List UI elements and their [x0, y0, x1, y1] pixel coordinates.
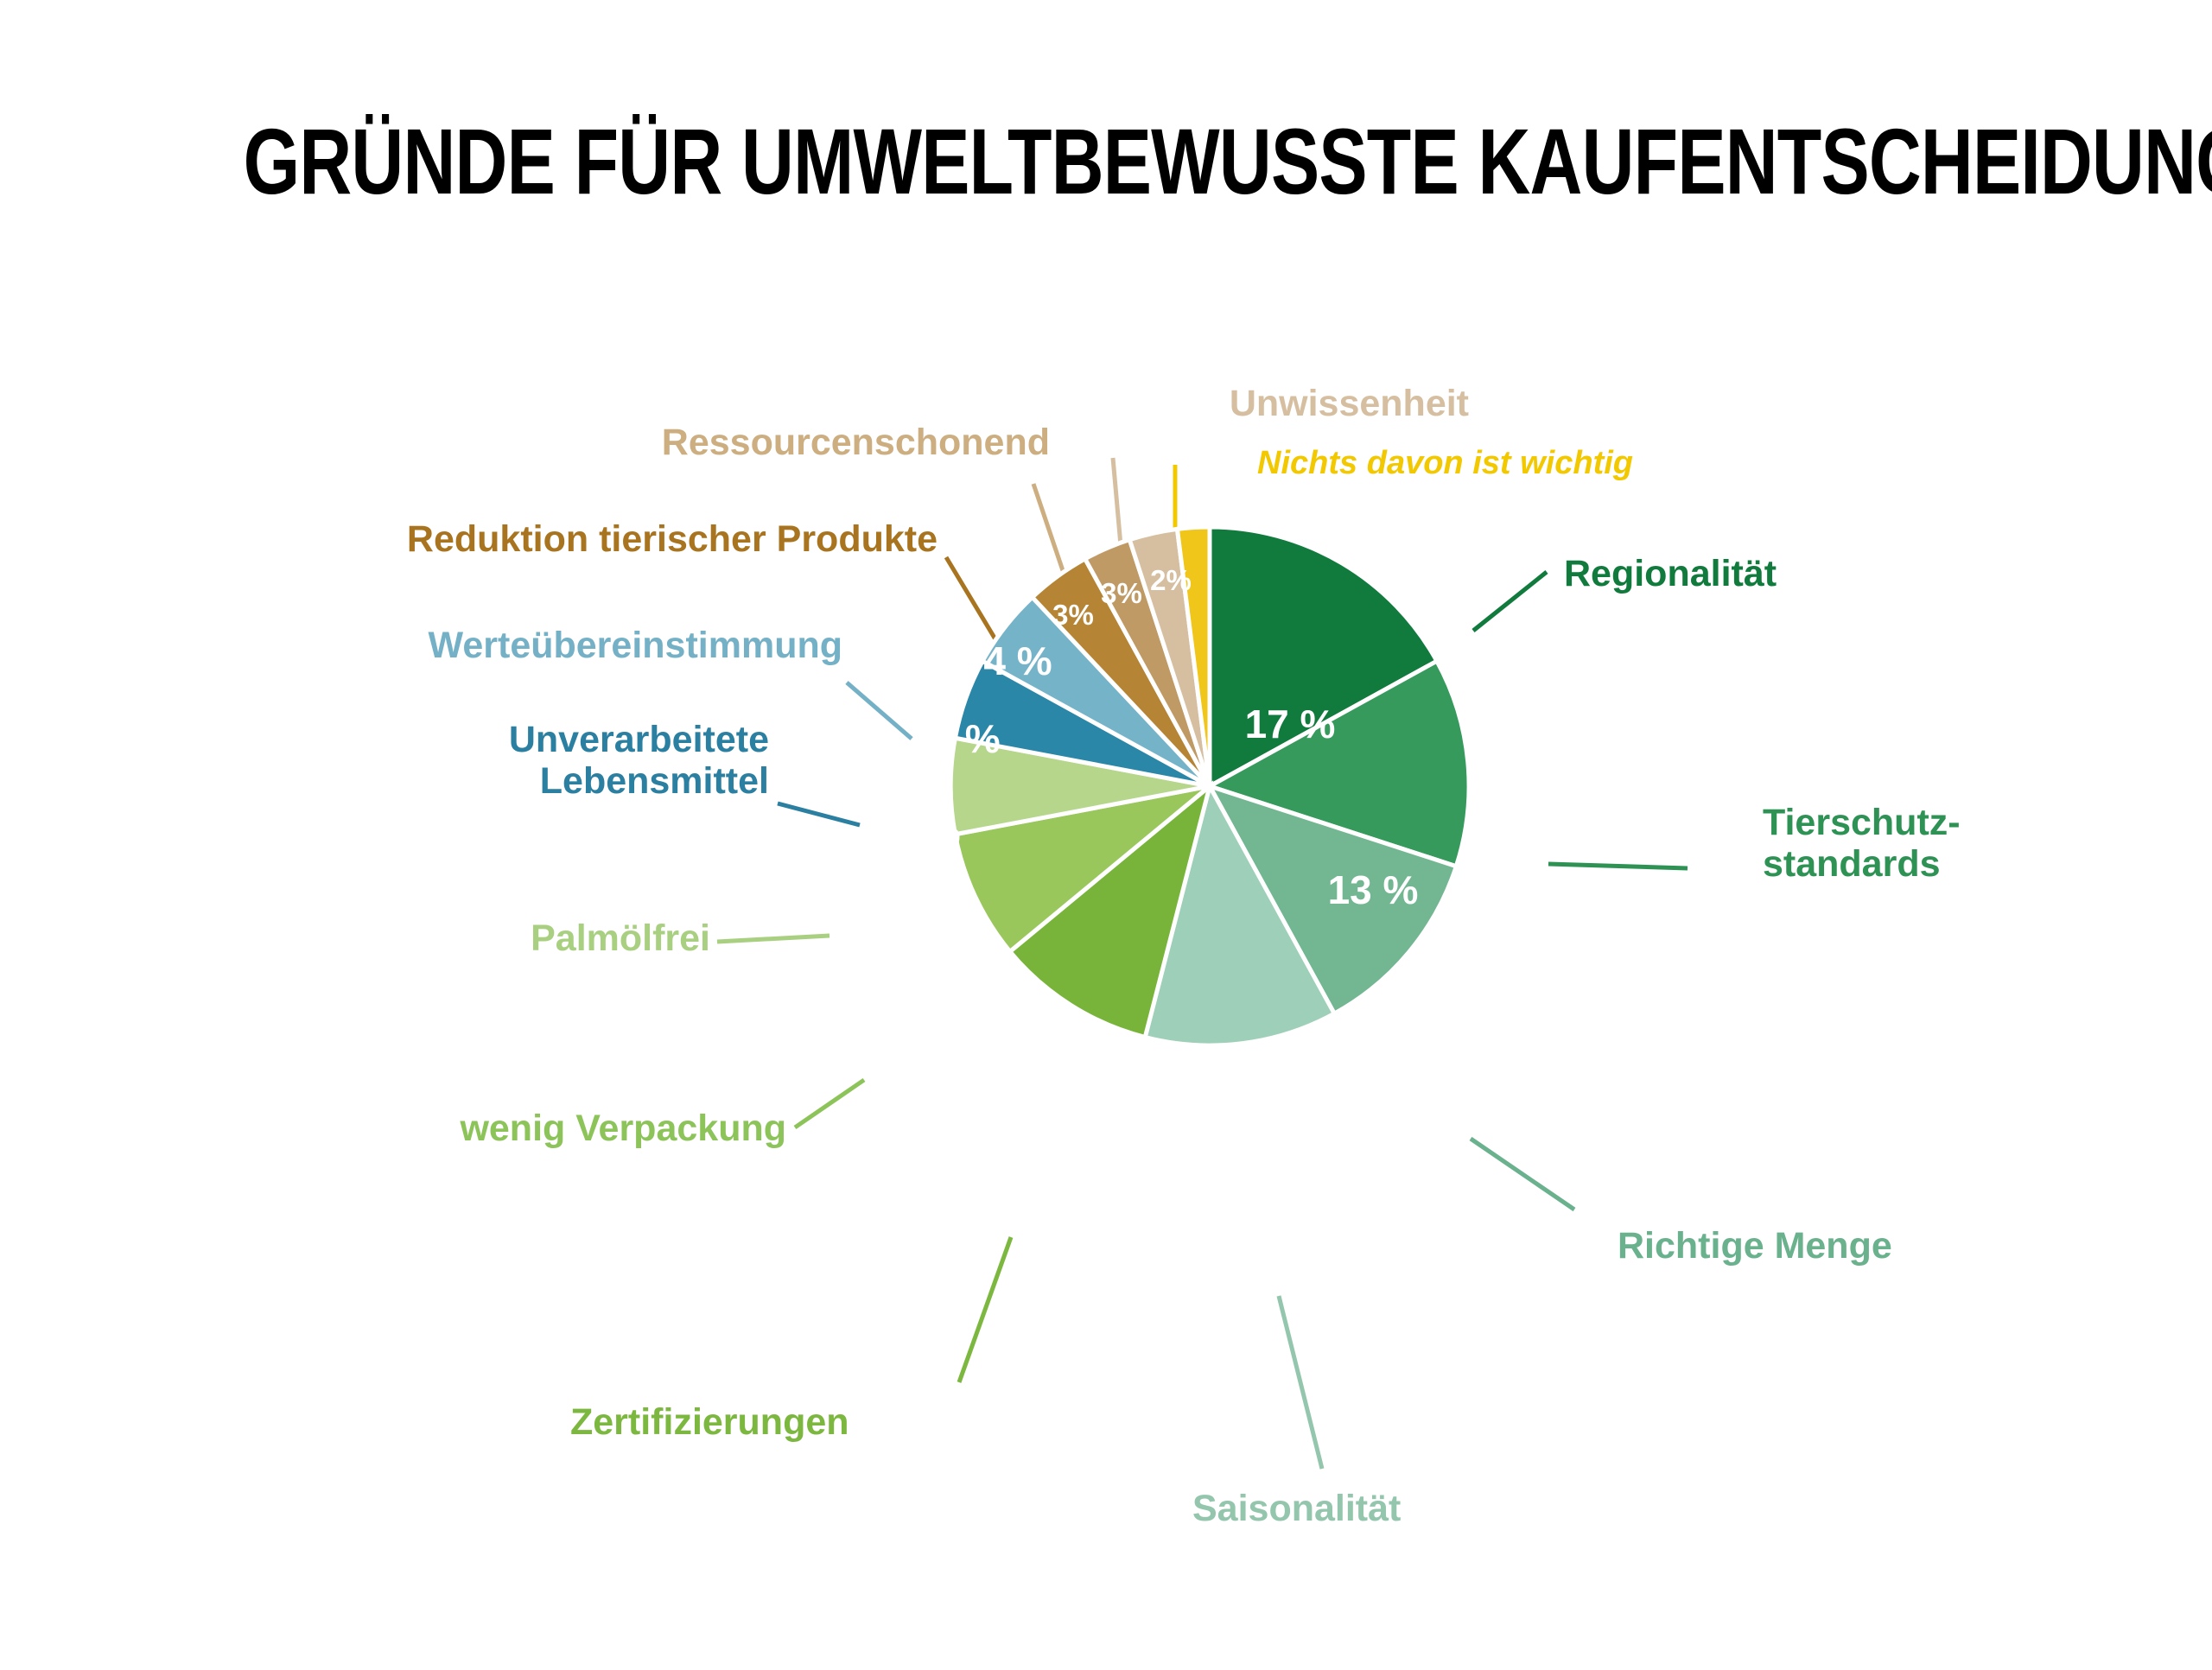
pct-label-ressourcenschonend: 3%	[1052, 599, 1094, 632]
pct-label-wenig-verpackung: 8 %	[903, 989, 971, 1036]
pct-label-tierschutzstandards: 13 %	[1328, 867, 1419, 913]
pct-label-regionalitaet: 17 %	[1245, 701, 1336, 747]
category-label-regionalitaet[interactable]: Regionalität	[1564, 553, 1777, 594]
pct-label-unverarbeitete: 5 %	[892, 809, 960, 855]
category-label-tierschutzstandards[interactable]: Tierschutz- standards	[1763, 802, 1961, 885]
leader-line-saisonalitaet	[1279, 1296, 1322, 1469]
leader-line-zertifizierungen	[959, 1237, 1011, 1382]
category-label-zertifizierungen[interactable]: Zertifizierungen	[570, 1401, 849, 1443]
leader-line-richtige-menge	[1471, 1139, 1574, 1210]
category-label-unverarbeitete-line1: Unverarbeitete	[509, 719, 769, 760]
pie-chart	[942, 518, 1478, 1054]
page-title: GRÜNDE FÜR UMWELTBEWUSSTE KAUFENTSCHEIDU…	[244, 112, 1969, 210]
pct-label-palmoelfrei: 6 %	[873, 894, 941, 941]
category-label-wenig-verpackung[interactable]: wenig Verpackung	[0, 1108, 786, 1149]
category-label-saisonalitaet[interactable]: Saisonalität	[1192, 1488, 1401, 1529]
category-label-unwissenheit[interactable]: Unwissenheit	[0, 383, 1469, 424]
leader-line-tierschutz	[1548, 864, 1688, 868]
pct-label-richtige-menge: 12 %	[1304, 1039, 1395, 1086]
category-label-unverarbeitete-lebensmittel[interactable]: Unverarbeitete Lebensmittel	[0, 719, 769, 802]
pct-label-zertifizierungen: 10 %	[996, 1100, 1087, 1146]
pct-label-nichts-davon: 2%	[1150, 564, 1192, 597]
category-label-tierschutz-line1: Tierschutz-	[1763, 802, 1961, 843]
leader-line-regionalitaet	[1473, 572, 1547, 631]
pct-label-reduktion: 4 %	[983, 638, 1052, 684]
chart-canvas: GRÜNDE FÜR UMWELTBEWUSSTE KAUFENTSCHEIDU…	[0, 0, 2212, 1670]
pct-label-unwissenheit: 3%	[1101, 577, 1142, 610]
category-label-palmoelfrei[interactable]: Palmölfrei	[0, 918, 710, 959]
pct-label-werteuebereinstimmung: 5 %	[931, 715, 1000, 762]
category-label-werteuebereinstimmung[interactable]: Werteübereinstimmung	[0, 625, 842, 666]
pct-label-saisonalitaet: 12 %	[1163, 1128, 1254, 1175]
category-label-tierschutz-line2: standards	[1763, 843, 1941, 885]
category-label-reduktion-tierischer-produkte[interactable]: Reduktion tierischer Produkte	[0, 518, 938, 560]
category-label-nichts-davon[interactable]: Nichts davon ist wichtig	[0, 445, 1633, 482]
category-label-richtige-menge[interactable]: Richtige Menge	[1618, 1225, 1892, 1267]
leader-line-wenig-verpackung	[795, 1080, 864, 1127]
leader-line-unverarbeitete	[778, 803, 860, 825]
leader-line-palmoelfrei	[717, 936, 829, 942]
category-label-unverarbeitete-line2: Lebensmittel	[540, 760, 769, 802]
leader-line-werte	[847, 683, 912, 739]
